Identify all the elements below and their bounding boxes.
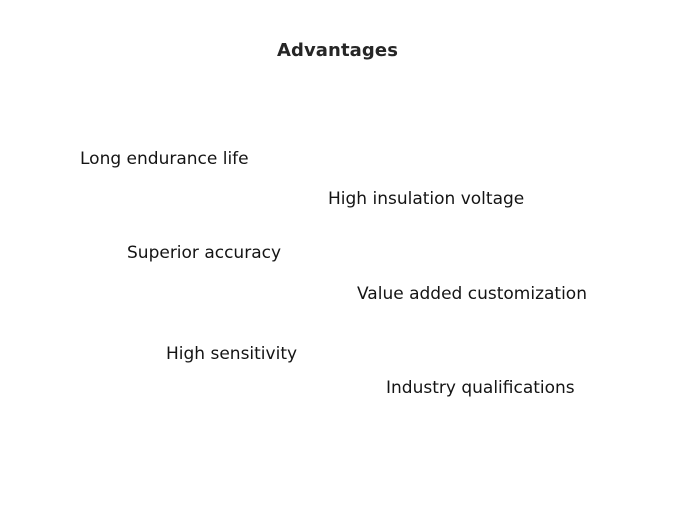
advantage-item-long-endurance-life: Long endurance life — [80, 151, 249, 168]
advantage-item-high-sensitivity: High sensitivity — [166, 346, 297, 363]
advantage-item-industry-qualifications: Industry qualifications — [386, 380, 575, 397]
slide-canvas: Advantages Long endurance life High insu… — [0, 0, 675, 506]
advantage-item-high-insulation-voltage: High insulation voltage — [328, 191, 524, 208]
page-title: Advantages — [0, 40, 675, 61]
advantage-item-value-added-customization: Value added customization — [357, 286, 587, 303]
advantage-item-superior-accuracy: Superior accuracy — [127, 245, 281, 262]
